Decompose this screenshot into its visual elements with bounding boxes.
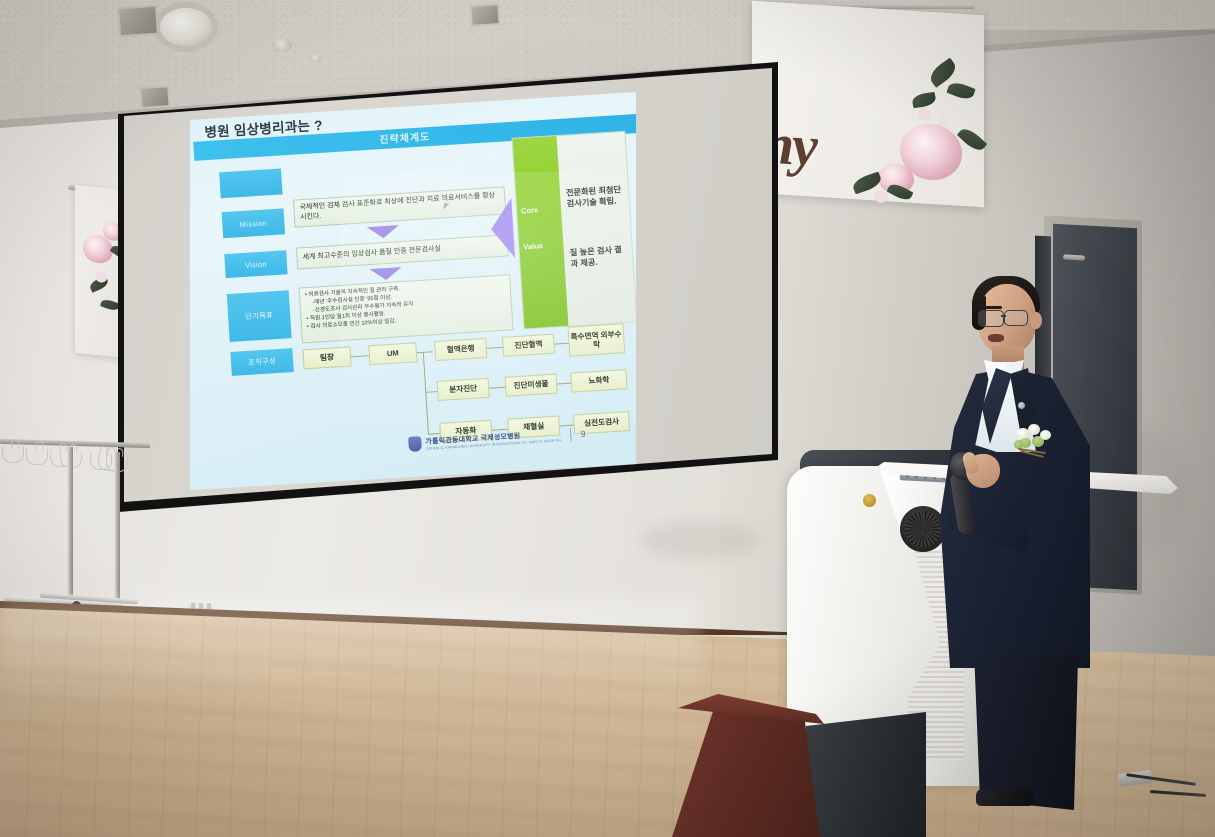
bud-icon <box>95 271 107 283</box>
hospital-logo-icon <box>408 436 422 452</box>
bud-icon <box>938 116 948 127</box>
shoe <box>976 788 1034 806</box>
org-box-team-lead: 팀장 <box>302 346 351 369</box>
floral-banner-right: ny <box>752 1 984 208</box>
door-handle[interactable] <box>1063 254 1085 260</box>
lapel-pin-icon <box>1018 402 1025 409</box>
corsage-flower-icon <box>1014 424 1054 458</box>
core-label: Core <box>521 205 539 215</box>
podium-emblem-icon <box>863 494 876 507</box>
org-box-molecular-dx: 분자진단 <box>437 378 490 401</box>
left-arrow-icon <box>489 198 515 259</box>
org-connector <box>417 351 433 353</box>
eyebrow <box>980 306 1002 309</box>
org-connector <box>425 391 437 393</box>
slide-label-blank <box>219 168 283 198</box>
ear <box>1030 312 1042 329</box>
slide-page-number: 9 <box>580 428 586 438</box>
core-text: 전문화된 최첨단 검사기술 확립. <box>566 184 623 210</box>
core-value-panel: Core Value 전문화된 최첨단 검사기술 확립. 질 높은 검사 결과 … <box>512 131 636 330</box>
leaf-icon <box>100 298 120 313</box>
presenter <box>930 276 1090 796</box>
slide-content: 병원 임상병리과는 ? 진략체계도 Mission Vision 단기목표 조직… <box>190 92 636 490</box>
org-box-dx-hematology: 진단혈액 <box>502 334 555 357</box>
ceiling-sprinkler-icon <box>272 38 292 52</box>
mouth <box>988 334 1004 342</box>
hanger-icon[interactable] <box>2 446 25 464</box>
trousers <box>974 650 1078 810</box>
core-value-green-bar <box>513 136 569 328</box>
value-label: Value <box>523 241 543 251</box>
slide-goal-box: • 의료검사 기술의 지속적인 질 관리 구축. -매년 '우수검사실 인증' … <box>298 274 513 343</box>
slide-label-mission: Mission <box>222 208 286 238</box>
slide-vision-text: 세계 최고수준의 임상검사 품질 인증 전문검사실 <box>296 234 509 269</box>
clothes-rack-post <box>114 452 120 600</box>
org-box-urine-chemistry: 뇨화학 <box>570 369 627 392</box>
ceiling-vent-icon <box>117 5 159 38</box>
hanger-icon[interactable] <box>26 448 49 466</box>
wall-scuff <box>640 520 760 560</box>
ceiling-speaker-icon <box>469 3 500 27</box>
ceiling-downlight-icon <box>160 8 212 46</box>
ceiling-vent-icon <box>139 85 170 109</box>
slide-label-org-structure: 조직구성 <box>230 348 293 376</box>
slide-label-vision: Vision <box>224 250 287 278</box>
slide-label-shortterm-goal: 단기목표 <box>227 290 292 342</box>
leaf-icon <box>911 92 937 108</box>
clothes-rack-post <box>67 447 73 595</box>
org-box-um: UM <box>368 342 417 365</box>
slide-band-subtitle: 진략체계도 <box>379 128 431 146</box>
glasses-icon <box>1004 310 1028 326</box>
value-text: 질 높은 검사 결과 제공. <box>570 244 627 270</box>
leaf-icon <box>946 80 975 103</box>
org-box-blood-bank: 혈액은행 <box>434 338 487 361</box>
org-connector <box>489 387 505 389</box>
org-connector <box>557 383 571 385</box>
org-connector <box>351 355 369 357</box>
org-connector <box>555 343 569 345</box>
slide-mission-text: 국제적인 검체 검사 표준화로 최상에 진단과 치료 의료서비스를 향상시킨다. <box>293 186 506 227</box>
org-box-dx-microbiology: 진단미생물 <box>505 374 558 397</box>
down-arrow-icon <box>369 267 402 281</box>
org-connector <box>487 347 503 349</box>
glasses-bridge <box>1001 315 1006 317</box>
presentation-room-photo: ny 병원 임상병리과는 ? 진략체계도 Mission Vision <box>0 0 1215 837</box>
bud-icon <box>874 190 888 203</box>
down-arrow-icon <box>367 225 400 239</box>
lectern-back-panel <box>806 712 926 837</box>
ceiling-sensor-icon <box>310 54 321 62</box>
bud-icon <box>918 107 931 121</box>
glasses-icon <box>978 310 1004 327</box>
org-box-special-immunology: 특수면역 외부수탁 <box>567 323 625 356</box>
projected-slide: 병원 임상병리과는 ? 진략체계도 Mission Vision 단기목표 조직… <box>190 92 636 490</box>
floor-reflection <box>0 600 700 710</box>
footer-divider <box>570 427 572 441</box>
